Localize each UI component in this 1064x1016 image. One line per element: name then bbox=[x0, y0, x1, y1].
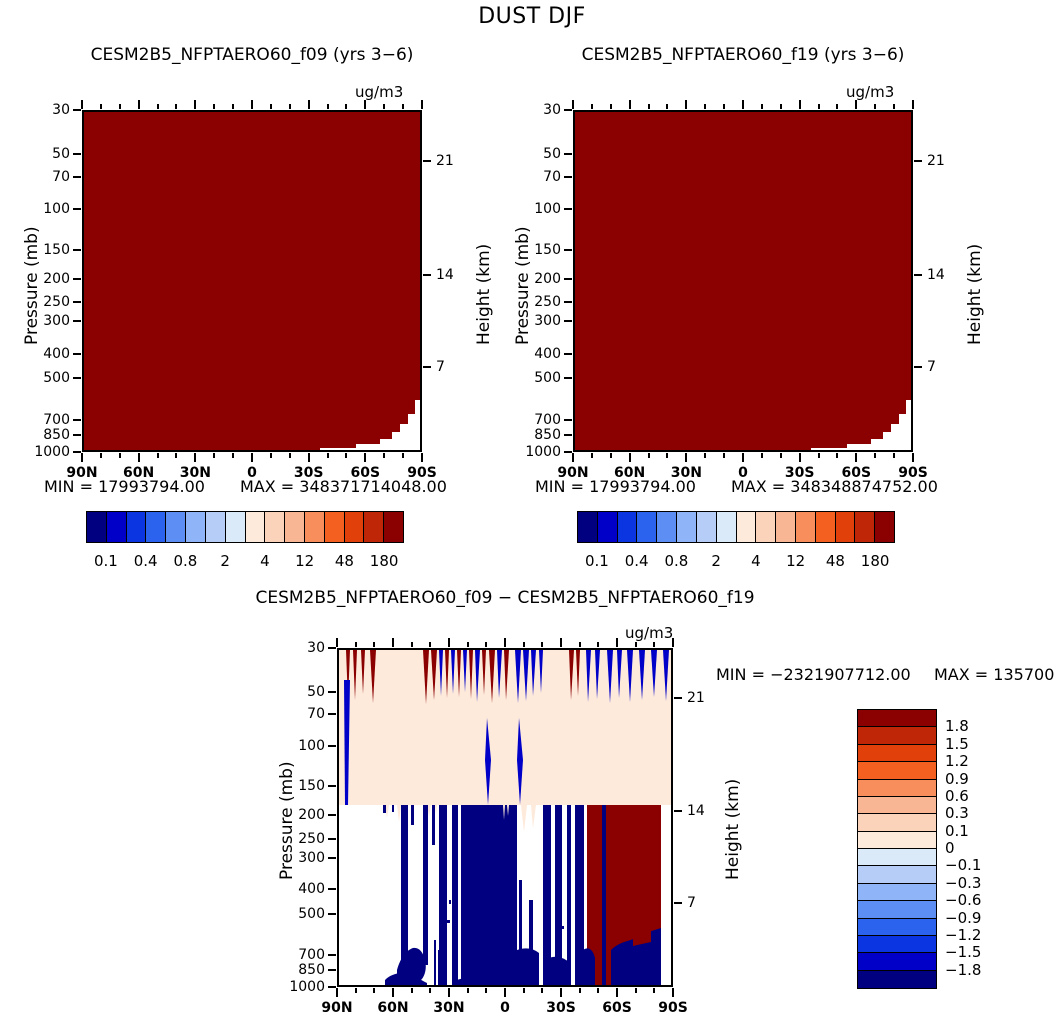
axis-tick-label: 21 bbox=[927, 153, 977, 169]
axis-tick-label: 700 bbox=[275, 947, 325, 963]
axis-tick-minor bbox=[666, 453, 668, 458]
colorbar-tick-label: 180 bbox=[370, 552, 399, 570]
axis-tick bbox=[564, 109, 572, 111]
axis-tick-top-minor bbox=[467, 642, 469, 647]
diff-max-value: MAX = 135700 bbox=[934, 665, 1054, 684]
diff-colorbar[interactable] bbox=[857, 709, 937, 989]
axis-tick-top-minor bbox=[429, 642, 431, 647]
axis-tick bbox=[616, 988, 618, 997]
axis-tick bbox=[328, 857, 336, 859]
axis-tick-top bbox=[572, 100, 574, 109]
axis-tick-minor bbox=[874, 453, 876, 458]
colorbar-tick-label: 4 bbox=[260, 552, 270, 570]
axis-tick bbox=[194, 453, 196, 462]
axis-tick bbox=[564, 419, 572, 421]
axis-tick bbox=[81, 453, 83, 462]
axis-tick-minor bbox=[818, 453, 820, 458]
axis-tick-top bbox=[364, 100, 366, 109]
right-height-axis-label: Height (km) bbox=[965, 244, 985, 345]
axis-tick-label: 7 bbox=[687, 895, 737, 911]
axis-tick-top bbox=[421, 100, 423, 109]
axis-tick-minor bbox=[591, 453, 593, 458]
axis-tick bbox=[564, 377, 572, 379]
axis-tick-top-minor bbox=[270, 104, 272, 109]
colorbar-cell bbox=[285, 512, 305, 542]
axis-tick-top-minor bbox=[836, 104, 838, 109]
axis-tick-top-minor bbox=[591, 104, 593, 109]
axis-tick-minor bbox=[402, 453, 404, 458]
axis-tick-label: 21 bbox=[687, 690, 737, 706]
axis-tick bbox=[328, 913, 336, 915]
axis-tick bbox=[914, 160, 922, 162]
axis-tick bbox=[73, 153, 81, 155]
colorbar-cell bbox=[87, 512, 107, 542]
axis-tick-top-minor bbox=[579, 642, 581, 647]
axis-tick-top-minor bbox=[635, 642, 637, 647]
axis-tick-top-minor bbox=[345, 104, 347, 109]
axis-tick-top-minor bbox=[327, 104, 329, 109]
axis-tick bbox=[328, 814, 336, 816]
colorbar-cell bbox=[858, 953, 936, 970]
colorbar-tick-label: 2 bbox=[711, 552, 721, 570]
colorbar-cell bbox=[776, 512, 796, 542]
axis-tick bbox=[448, 988, 450, 997]
axis-tick-label: 1000 bbox=[20, 444, 70, 460]
axis-tick bbox=[364, 453, 366, 462]
colorbar-cell bbox=[858, 797, 936, 814]
colorbar-cell bbox=[858, 780, 936, 797]
colorbar-cell bbox=[384, 512, 403, 542]
axis-tick-label: 7 bbox=[436, 359, 486, 375]
axis-tick-top-minor bbox=[373, 642, 375, 647]
axis-tick-top-minor bbox=[175, 104, 177, 109]
axis-tick bbox=[73, 353, 81, 355]
axis-tick bbox=[73, 109, 81, 111]
axis-tick-minor bbox=[175, 453, 177, 458]
left-panel-title: CESM2B5_NFPTAERO60_f09 (yrs 3−6) bbox=[0, 45, 504, 65]
colorbar-cell bbox=[618, 512, 638, 542]
axis-tick bbox=[914, 366, 922, 368]
axis-tick-label: 700 bbox=[511, 412, 561, 428]
colorbar-cell bbox=[246, 512, 266, 542]
left-panel-fill bbox=[84, 112, 420, 450]
axis-tick-minor bbox=[345, 453, 347, 458]
colorbar-tick-label: 48 bbox=[826, 552, 845, 570]
axis-tick-label: 50 bbox=[20, 146, 70, 162]
axis-tick-minor bbox=[761, 453, 763, 458]
axis-tick-top bbox=[560, 638, 562, 647]
axis-tick-top bbox=[855, 100, 857, 109]
axis-tick bbox=[674, 810, 682, 812]
colorbar-cell bbox=[858, 849, 936, 866]
axis-tick-label: 500 bbox=[20, 370, 70, 386]
colorbar-tick-label: 0.1 bbox=[94, 552, 118, 570]
axis-tick-label: 400 bbox=[275, 881, 325, 897]
axis-tick-minor bbox=[289, 453, 291, 458]
colorbar-tick-label: 0.9 bbox=[945, 770, 969, 788]
axis-tick-top-minor bbox=[780, 104, 782, 109]
axis-tick bbox=[392, 988, 394, 997]
colorbar-cell bbox=[858, 710, 936, 727]
colorbar-cell bbox=[578, 512, 598, 542]
axis-tick-top bbox=[685, 100, 687, 109]
right-panel-fill bbox=[575, 112, 911, 450]
colorbar-tick-label: 180 bbox=[861, 552, 890, 570]
colorbar-tick-label: 1.8 bbox=[945, 717, 969, 735]
axis-tick bbox=[423, 274, 431, 276]
axis-tick bbox=[564, 176, 572, 178]
colorbar-cell bbox=[858, 814, 936, 831]
axis-tick bbox=[564, 434, 572, 436]
axis-tick bbox=[672, 988, 674, 997]
axis-tick bbox=[328, 785, 336, 787]
axis-tick-top bbox=[81, 100, 83, 109]
axis-tick-top-minor bbox=[485, 642, 487, 647]
axis-tick-label: 60S bbox=[602, 1000, 632, 1016]
colorbar-cell bbox=[796, 512, 816, 542]
axis-tick-label: 60N bbox=[377, 1000, 408, 1016]
axis-tick-minor bbox=[635, 988, 637, 993]
axis-tick-top bbox=[138, 100, 140, 109]
colorbar-cell bbox=[206, 512, 226, 542]
axis-tick bbox=[73, 419, 81, 421]
axis-tick-minor bbox=[723, 453, 725, 458]
colorbar-cell bbox=[855, 512, 875, 542]
axis-tick bbox=[73, 320, 81, 322]
axis-tick-label: 100 bbox=[20, 201, 70, 217]
axis-tick bbox=[421, 453, 423, 462]
axis-tick bbox=[328, 986, 336, 988]
axis-tick-label: 100 bbox=[511, 201, 561, 217]
diff-colorbar-labels: 1.81.51.20.90.60.30.10−0.1−0.3−0.6−0.9−1… bbox=[941, 709, 1001, 987]
axis-tick-top-minor bbox=[610, 104, 612, 109]
colorbar-tick-label: 4 bbox=[751, 552, 761, 570]
colorbar-tick-label: 0.3 bbox=[945, 804, 969, 822]
colorbar-tick-label: 0 bbox=[945, 839, 955, 857]
axis-tick-top bbox=[308, 100, 310, 109]
diff-panel-fill bbox=[339, 650, 671, 985]
axis-tick-label: 7 bbox=[927, 359, 977, 375]
axis-tick-label: 700 bbox=[20, 412, 70, 428]
axis-tick bbox=[799, 453, 801, 462]
right-max-value: MAX = 348348874752.00 bbox=[731, 477, 938, 496]
axis-tick-minor bbox=[523, 988, 525, 993]
axis-tick-label: 0 bbox=[500, 1000, 510, 1016]
left-panel-units: ug/m3 bbox=[355, 83, 403, 101]
axis-tick-label: 500 bbox=[511, 370, 561, 386]
axis-tick-minor bbox=[610, 453, 612, 458]
colorbar-tick-label: 0.1 bbox=[585, 552, 609, 570]
colorbar-cell bbox=[756, 512, 776, 542]
colorbar-tick-label: −0.6 bbox=[945, 891, 981, 909]
left-panel-plot[interactable] bbox=[82, 110, 422, 452]
axis-tick bbox=[308, 453, 310, 462]
axis-tick bbox=[73, 278, 81, 280]
colorbar-tick-label: 0.6 bbox=[945, 787, 969, 805]
axis-tick-top-minor bbox=[653, 642, 655, 647]
axis-tick-label: 50 bbox=[275, 684, 325, 700]
axis-tick-minor bbox=[836, 453, 838, 458]
right-panel-title: CESM2B5_NFPTAERO60_f19 (yrs 3−6) bbox=[491, 45, 995, 65]
axis-tick bbox=[423, 366, 431, 368]
colorbar-cell bbox=[858, 762, 936, 779]
axis-tick bbox=[328, 954, 336, 956]
colorbar-cell bbox=[186, 512, 206, 542]
axis-tick-minor bbox=[119, 453, 121, 458]
axis-tick bbox=[564, 278, 572, 280]
colorbar-cell bbox=[858, 745, 936, 762]
colorbar-cell bbox=[345, 512, 365, 542]
axis-tick bbox=[328, 838, 336, 840]
colorbar-tick-label: 12 bbox=[295, 552, 314, 570]
colorbar-cell bbox=[858, 901, 936, 918]
axis-tick-top-minor bbox=[723, 104, 725, 109]
axis-tick-top-minor bbox=[666, 104, 668, 109]
left-min-value: MIN = 17993794.00 bbox=[44, 477, 205, 496]
axis-tick-label: 30N bbox=[433, 1000, 464, 1016]
colorbar-cell bbox=[325, 512, 345, 542]
colorbar-cell bbox=[858, 884, 936, 901]
axis-tick-top-minor bbox=[704, 104, 706, 109]
axis-tick-minor bbox=[355, 988, 357, 993]
diff-panel-plot[interactable] bbox=[337, 648, 673, 987]
axis-tick-minor bbox=[411, 988, 413, 993]
axis-tick-top-minor bbox=[232, 104, 234, 109]
axis-tick-top-minor bbox=[893, 104, 895, 109]
colorbar-tick-label: 2 bbox=[220, 552, 230, 570]
colorbar-tick-label: 0.8 bbox=[664, 552, 688, 570]
axis-tick bbox=[73, 208, 81, 210]
axis-tick-top-minor bbox=[289, 104, 291, 109]
axis-tick bbox=[73, 249, 81, 251]
axis-tick-top-minor bbox=[383, 104, 385, 109]
axis-tick-label: 850 bbox=[511, 427, 561, 443]
axis-tick-top bbox=[799, 100, 801, 109]
axis-tick-minor bbox=[893, 453, 895, 458]
diff-panel-title: CESM2B5_NFPTAERO60_f09 − CESM2B5_NFPTAER… bbox=[130, 588, 880, 608]
colorbar-cell bbox=[875, 512, 894, 542]
colorbar-tick-label: −1.8 bbox=[945, 961, 981, 979]
axis-tick-top-minor bbox=[213, 104, 215, 109]
axis-tick-label: 21 bbox=[436, 153, 486, 169]
axis-tick-label: 100 bbox=[275, 738, 325, 754]
axis-tick bbox=[328, 969, 336, 971]
diff-pressure-axis-label: Pressure (mb) bbox=[277, 761, 297, 880]
page-title: DUST DJF bbox=[0, 4, 1064, 29]
axis-tick bbox=[855, 453, 857, 462]
axis-tick-top-minor bbox=[818, 104, 820, 109]
colorbar-cell bbox=[858, 919, 936, 936]
axis-tick-minor bbox=[213, 453, 215, 458]
colorbar-cell bbox=[677, 512, 697, 542]
axis-tick-minor bbox=[429, 988, 431, 993]
colorbar-cell bbox=[146, 512, 166, 542]
colorbar-tick-label: 12 bbox=[786, 552, 805, 570]
axis-tick bbox=[560, 988, 562, 997]
axis-tick-label: 850 bbox=[275, 962, 325, 978]
right-colorbar[interactable] bbox=[577, 511, 895, 543]
axis-tick-minor bbox=[648, 453, 650, 458]
colorbar-tick-label: 1.2 bbox=[945, 752, 969, 770]
left-height-axis-label: Height (km) bbox=[474, 244, 494, 345]
right-pressure-axis-label: Pressure (mb) bbox=[513, 226, 533, 345]
axis-tick-minor bbox=[597, 988, 599, 993]
colorbar-cell bbox=[364, 512, 384, 542]
colorbar-tick-label: 0.4 bbox=[625, 552, 649, 570]
axis-tick-top bbox=[672, 638, 674, 647]
axis-tick-label: 70 bbox=[20, 169, 70, 185]
axis-tick bbox=[328, 691, 336, 693]
axis-tick-minor bbox=[653, 988, 655, 993]
axis-tick-top-minor bbox=[523, 642, 525, 647]
axis-tick bbox=[423, 160, 431, 162]
colorbar-tick-label: −1.2 bbox=[945, 926, 981, 944]
axis-tick-top-minor bbox=[874, 104, 876, 109]
axis-tick bbox=[564, 301, 572, 303]
axis-tick-top bbox=[448, 638, 450, 647]
colorbar-cell bbox=[858, 832, 936, 849]
axis-tick bbox=[564, 320, 572, 322]
axis-tick bbox=[674, 697, 682, 699]
axis-tick bbox=[251, 453, 253, 462]
diff-panel-units: ug/m3 bbox=[625, 624, 673, 642]
colorbar-cell bbox=[717, 512, 737, 542]
axis-tick-minor bbox=[100, 453, 102, 458]
axis-tick-label: 400 bbox=[20, 346, 70, 362]
axis-tick-minor bbox=[232, 453, 234, 458]
colorbar-cell bbox=[858, 971, 936, 988]
axis-tick-top-minor bbox=[157, 104, 159, 109]
axis-tick-label: 70 bbox=[275, 706, 325, 722]
axis-tick-top-minor bbox=[541, 642, 543, 647]
axis-tick bbox=[564, 451, 572, 453]
colorbar-cell bbox=[265, 512, 285, 542]
colorbar-tick-label: 0.4 bbox=[134, 552, 158, 570]
axis-tick bbox=[138, 453, 140, 462]
colorbar-cell bbox=[858, 866, 936, 883]
colorbar-cell bbox=[166, 512, 186, 542]
axis-tick-top bbox=[504, 638, 506, 647]
axis-tick bbox=[504, 988, 506, 997]
left-max-value: MAX = 348371714048.00 bbox=[240, 477, 447, 496]
axis-tick bbox=[73, 451, 81, 453]
axis-tick bbox=[912, 453, 914, 462]
axis-tick bbox=[564, 208, 572, 210]
axis-tick-minor bbox=[541, 988, 543, 993]
axis-tick-minor bbox=[704, 453, 706, 458]
axis-tick-top bbox=[629, 100, 631, 109]
axis-tick bbox=[336, 988, 338, 997]
colorbar-tick-label: −1.5 bbox=[945, 943, 981, 961]
axis-tick-label: 1000 bbox=[275, 979, 325, 995]
axis-tick bbox=[564, 153, 572, 155]
axis-tick-label: 850 bbox=[20, 427, 70, 443]
axis-tick-top-minor bbox=[100, 104, 102, 109]
colorbar-tick-label: 0.1 bbox=[945, 822, 969, 840]
colorbar-cell bbox=[598, 512, 618, 542]
axis-tick-top-minor bbox=[119, 104, 121, 109]
colorbar-tick-label: 1.5 bbox=[945, 735, 969, 753]
left-pressure-axis-label: Pressure (mb) bbox=[22, 226, 42, 345]
axis-tick-label: 90S bbox=[658, 1000, 688, 1016]
colorbar-tick-label: −0.1 bbox=[945, 856, 981, 874]
left-colorbar[interactable] bbox=[86, 511, 404, 543]
axis-tick-label: 70 bbox=[511, 169, 561, 185]
axis-tick-label: 30 bbox=[511, 102, 561, 118]
axis-tick-minor bbox=[780, 453, 782, 458]
axis-tick-top-minor bbox=[761, 104, 763, 109]
colorbar-tick-label: −0.9 bbox=[945, 909, 981, 927]
colorbar-cell bbox=[816, 512, 836, 542]
axis-tick bbox=[742, 453, 744, 462]
colorbar-cell bbox=[737, 512, 757, 542]
axis-tick-minor bbox=[157, 453, 159, 458]
axis-tick-top bbox=[194, 100, 196, 109]
axis-tick bbox=[564, 353, 572, 355]
axis-tick-top-minor bbox=[355, 642, 357, 647]
axis-tick bbox=[328, 888, 336, 890]
axis-tick bbox=[73, 176, 81, 178]
diff-height-axis-label: Height (km) bbox=[723, 779, 743, 880]
axis-tick bbox=[328, 745, 336, 747]
axis-tick bbox=[685, 453, 687, 462]
axis-tick-top-minor bbox=[597, 642, 599, 647]
right-min-value: MIN = 17993794.00 bbox=[535, 477, 696, 496]
axis-tick-top bbox=[251, 100, 253, 109]
left-colorbar-labels: 0.10.40.8241248180 bbox=[86, 552, 402, 572]
axis-tick bbox=[73, 377, 81, 379]
axis-tick-top bbox=[912, 100, 914, 109]
colorbar-cell bbox=[226, 512, 246, 542]
colorbar-cell bbox=[127, 512, 147, 542]
axis-tick-minor bbox=[485, 988, 487, 993]
colorbar-cell bbox=[697, 512, 717, 542]
axis-tick-minor bbox=[327, 453, 329, 458]
colorbar-cell bbox=[107, 512, 127, 542]
right-panel-units: ug/m3 bbox=[846, 83, 894, 101]
axis-tick-minor bbox=[579, 988, 581, 993]
axis-tick-top bbox=[336, 638, 338, 647]
diff-min-value: MIN = −2321907712.00 bbox=[716, 665, 911, 684]
axis-tick-top-minor bbox=[411, 642, 413, 647]
axis-tick-label: 1000 bbox=[511, 444, 561, 460]
colorbar-cell bbox=[657, 512, 677, 542]
right-colorbar-labels: 0.10.40.8241248180 bbox=[577, 552, 893, 572]
axis-tick bbox=[328, 647, 336, 649]
axis-tick bbox=[629, 453, 631, 462]
axis-tick-minor bbox=[373, 988, 375, 993]
axis-tick-minor bbox=[270, 453, 272, 458]
axis-tick-label: 90N bbox=[321, 1000, 352, 1016]
axis-tick-top bbox=[392, 638, 394, 647]
colorbar-cell bbox=[836, 512, 856, 542]
colorbar-cell bbox=[858, 727, 936, 744]
axis-tick bbox=[564, 249, 572, 251]
axis-tick-top bbox=[616, 638, 618, 647]
colorbar-tick-label: 48 bbox=[335, 552, 354, 570]
axis-tick-minor bbox=[467, 988, 469, 993]
right-panel-plot[interactable] bbox=[573, 110, 913, 452]
colorbar-cell bbox=[858, 936, 936, 953]
axis-tick bbox=[572, 453, 574, 462]
axis-tick-label: 500 bbox=[275, 906, 325, 922]
axis-tick bbox=[914, 274, 922, 276]
axis-tick-label: 30S bbox=[546, 1000, 576, 1016]
colorbar-cell bbox=[637, 512, 657, 542]
axis-tick-top-minor bbox=[648, 104, 650, 109]
axis-tick-minor bbox=[383, 453, 385, 458]
axis-tick-label: 30 bbox=[275, 640, 325, 656]
